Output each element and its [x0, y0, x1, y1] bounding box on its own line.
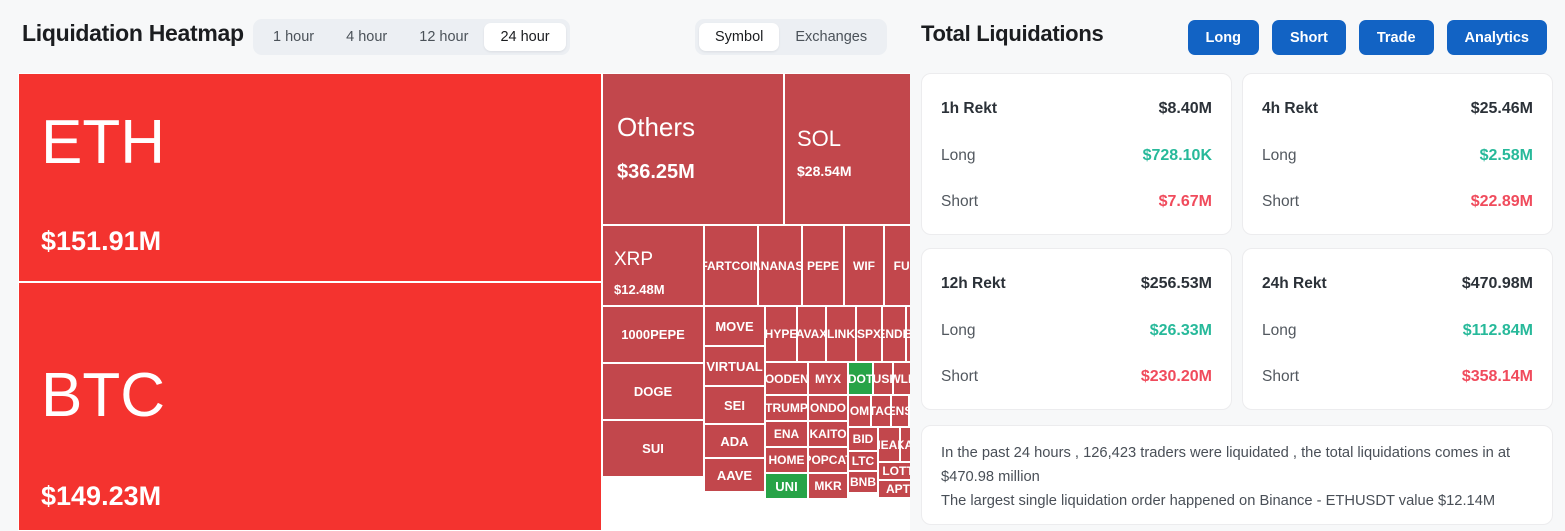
- treemap-tile-label: ONDO: [810, 402, 846, 414]
- treemap-tile-trump[interactable]: TRUMP: [765, 395, 808, 421]
- treemap-tile-btc[interactable]: BTC$149.23M: [18, 282, 602, 531]
- treemap-tile-value: $12.48M: [614, 283, 665, 296]
- treemap-tile-ada[interactable]: ADA: [704, 424, 765, 458]
- treemap-tile-value: $36.25M: [617, 162, 695, 182]
- treemap-tile-label: ETH: [41, 112, 165, 174]
- treemap-tile-label: KAITO: [809, 428, 846, 440]
- treemap-tile-pepe[interactable]: PEPE: [802, 225, 844, 306]
- treemap-tile-label: FARTCOIN: [704, 260, 758, 272]
- stat-short-value: $358.14M: [1462, 368, 1533, 386]
- treemap-tile-popcat[interactable]: POPCAT: [808, 447, 848, 473]
- stat-card-12h: 12h Rekt $256.53M Long $26.33M Short $23…: [921, 248, 1232, 410]
- treemap-tile-mkr[interactable]: MKR: [808, 473, 848, 499]
- stat-short-row: Short $7.67M: [941, 193, 1212, 211]
- treemap-tile-bid[interactable]: BID: [848, 427, 878, 451]
- treemap-tile-label: WIF: [853, 260, 875, 272]
- stat-short-value: $22.89M: [1471, 193, 1533, 211]
- timeframe-option-2[interactable]: 12 hour: [403, 23, 484, 51]
- stat-long-label: Long: [1262, 147, 1296, 165]
- treemap-tile-sushi[interactable]: SUSHI: [873, 362, 893, 395]
- treemap-tile-ondo[interactable]: ONDO: [808, 395, 848, 421]
- stat-short-row: Short $358.14M: [1262, 368, 1533, 386]
- treemap-tile-label: RENDER: [882, 328, 906, 340]
- treemap-tile-label: LTC: [852, 455, 874, 467]
- stat-short-label: Short: [1262, 193, 1299, 211]
- stat-long-value: $26.33M: [1150, 322, 1212, 340]
- liquidation-treemap[interactable]: ETH$151.91MBTC$149.23MOthers$36.25MSOL$2…: [18, 73, 910, 531]
- treemap-tile-label: HOME: [769, 454, 805, 466]
- treemap-tile-ltc[interactable]: LTC: [848, 451, 878, 471]
- stat-long-label: Long: [941, 147, 975, 165]
- treemap-tile-label: BANANAS31: [758, 260, 802, 272]
- treemap-tile-lott[interactable]: LOTT: [878, 462, 910, 480]
- page-header: Liquidation Heatmap 1 hour4 hour12 hour2…: [0, 0, 1565, 70]
- treemap-tile-xrp[interactable]: XRP$12.48M: [602, 225, 704, 306]
- treemap-tile-near[interactable]: NEAR: [878, 427, 900, 462]
- treemap-tile-virtual[interactable]: VIRTUAL: [704, 346, 765, 386]
- treemap-tile-avax[interactable]: AVAX: [797, 306, 826, 362]
- summary-card: In the past 24 hours , 126,423 traders w…: [921, 425, 1553, 525]
- treemap-tile-label: MYX: [815, 373, 841, 385]
- stat-total-value: $256.53M: [1141, 275, 1212, 293]
- treemap-tile-label: POPCAT: [808, 454, 848, 466]
- treemap-tile-dot[interactable]: DOT: [848, 362, 873, 395]
- stat-total-row: 4h Rekt $25.46M: [1262, 100, 1533, 118]
- treemap-tile-sol[interactable]: SOL$28.54M: [784, 73, 910, 225]
- treemap-tile-bananas31[interactable]: BANANAS31: [758, 225, 802, 306]
- stat-title: 12h Rekt: [941, 275, 1006, 293]
- stat-title: 24h Rekt: [1262, 275, 1327, 293]
- treemap-tile-label: SEI: [724, 399, 745, 412]
- treemap-tile-label: BID: [853, 433, 874, 445]
- action-button-analytics[interactable]: Analytics: [1447, 20, 1547, 55]
- treemap-tile-ena[interactable]: ENA: [765, 421, 808, 447]
- timeframe-option-1[interactable]: 4 hour: [330, 23, 403, 51]
- treemap-tile-label: OM: [850, 405, 869, 417]
- stat-short-label: Short: [941, 368, 978, 386]
- summary-line-1: In the past 24 hours , 126,423 traders w…: [941, 442, 1533, 490]
- treemap-tile-sei[interactable]: SEI: [704, 386, 765, 424]
- treemap-tile-label: BCH: [906, 328, 910, 340]
- stat-total-value: $8.40M: [1159, 100, 1212, 118]
- treemap-tile-hype[interactable]: HYPE: [765, 306, 797, 362]
- treemap-tile-fun[interactable]: FUN: [884, 225, 910, 306]
- treemap-tile-spx[interactable]: SPX: [856, 306, 882, 362]
- summary-line-2: The largest single liquidation order hap…: [941, 490, 1533, 514]
- treemap-tile-label: VIRTUAL: [706, 360, 762, 373]
- liquidation-heatmap-page: Liquidation Heatmap 1 hour4 hour12 hour2…: [0, 0, 1565, 531]
- stat-title: 1h Rekt: [941, 100, 997, 118]
- treemap-tile-wif[interactable]: WIF: [844, 225, 884, 306]
- total-liquidations-title: Total Liquidations: [921, 21, 1103, 47]
- treemap-tile-tao[interactable]: TAO: [871, 395, 891, 427]
- treemap-tile-label: DOT: [848, 373, 873, 385]
- stat-total-row: 1h Rekt $8.40M: [941, 100, 1212, 118]
- stat-card-1h: 1h Rekt $8.40M Long $728.10K Short $7.67…: [921, 73, 1232, 235]
- treemap-tile-label: UNI: [775, 480, 797, 493]
- stat-long-row: Long $112.84M: [1262, 322, 1533, 340]
- stat-short-label: Short: [1262, 368, 1299, 386]
- treemap-tile-value: $28.54M: [797, 164, 851, 178]
- treemap-tile-value: $151.91M: [41, 228, 161, 255]
- timeframe-option-0[interactable]: 1 hour: [257, 23, 330, 51]
- stat-long-value: $112.84M: [1463, 322, 1533, 340]
- treemap-tile-kaito[interactable]: KAITO: [808, 421, 848, 447]
- treemap-tile-1000pepe[interactable]: 1000PEPE: [602, 306, 704, 363]
- stat-long-value: $728.10K: [1143, 147, 1212, 165]
- treemap-tile-home[interactable]: HOME: [765, 447, 808, 473]
- stat-short-value: $7.67M: [1159, 193, 1212, 211]
- treemap-tile-eth[interactable]: ETH$151.91M: [18, 73, 602, 282]
- treemap-tile-label: PEPE: [807, 260, 839, 272]
- treemap-tile-label: SUSHI: [873, 373, 893, 385]
- treemap-tile-label: MOODENG: [765, 373, 808, 385]
- treemap-tile-label: BTC: [41, 365, 165, 427]
- treemap-tile-myx[interactable]: MYX: [808, 362, 848, 395]
- treemap-tile-bnb[interactable]: BNB: [848, 471, 878, 493]
- treemap-tile-label: MOVE: [715, 320, 753, 333]
- treemap-tile-fartcoin[interactable]: FARTCOIN: [704, 225, 758, 306]
- treemap-tile-ens[interactable]: ENS: [891, 395, 909, 427]
- treemap-tile-label: 1000PEPE: [621, 328, 685, 341]
- treemap-tile-label: ADA: [720, 435, 748, 448]
- stat-long-row: Long $2.58M: [1262, 147, 1533, 165]
- treemap-tile-label: ENS: [891, 405, 909, 417]
- treemap-tile-label: NEAR: [878, 439, 900, 451]
- treemap-tile-wld[interactable]: WLD: [893, 362, 910, 395]
- treemap-tile-label: SPX: [857, 328, 881, 340]
- stat-total-value: $470.98M: [1462, 275, 1533, 293]
- treemap-tile-link[interactable]: LINK: [826, 306, 856, 362]
- grouping-option-1[interactable]: Exchanges: [779, 23, 883, 51]
- treemap-tile-label: KAS: [900, 439, 910, 451]
- stat-long-label: Long: [1262, 322, 1296, 340]
- treemap-tile-label: APT: [886, 483, 910, 495]
- treemap-tile-label: WLD: [893, 373, 910, 385]
- stat-long-value: $2.58M: [1480, 147, 1533, 165]
- treemap-tile-value: $149.23M: [41, 483, 161, 510]
- treemap-tile-inj[interactable]: INJ: [909, 395, 910, 427]
- grouping-option-0[interactable]: Symbol: [699, 23, 779, 51]
- page-title: Liquidation Heatmap: [22, 20, 244, 47]
- treemap-tile-render[interactable]: RENDER: [882, 306, 906, 362]
- treemap-tile-sui[interactable]: SUI: [602, 420, 704, 477]
- action-button-short[interactable]: Short: [1272, 20, 1346, 55]
- treemap-tile-uni[interactable]: UNI: [765, 473, 808, 499]
- stat-title: 4h Rekt: [1262, 100, 1318, 118]
- stat-total-value: $25.46M: [1471, 100, 1533, 118]
- treemap-tile-others[interactable]: Others$36.25M: [602, 73, 784, 225]
- treemap-tile-label: INJ: [909, 405, 910, 417]
- treemap-tile-bch[interactable]: BCH: [906, 306, 910, 362]
- treemap-tile-label: Others: [617, 114, 695, 140]
- treemap-tile-label: TRUMP: [765, 402, 808, 414]
- header-actions: LongShortTradeAnalytics: [1188, 20, 1547, 55]
- grouping-segmented-control[interactable]: SymbolExchanges: [695, 19, 887, 55]
- stat-card-24h: 24h Rekt $470.98M Long $112.84M Short $3…: [1242, 248, 1553, 410]
- treemap-tile-label: SUI: [642, 442, 664, 455]
- treemap-tile-apt[interactable]: APT: [878, 480, 910, 498]
- treemap-tile-label: HYPE: [765, 328, 797, 340]
- treemap-tile-moodeng[interactable]: MOODENG: [765, 362, 808, 395]
- stat-long-label: Long: [941, 322, 975, 340]
- treemap-tile-aave[interactable]: AAVE: [704, 458, 765, 492]
- treemap-tile-label: LINK: [827, 328, 855, 340]
- treemap-tile-label: MKR: [814, 480, 841, 492]
- action-button-trade[interactable]: Trade: [1359, 20, 1434, 55]
- treemap-tile-label: SOL: [797, 128, 841, 150]
- action-button-long[interactable]: Long: [1188, 20, 1259, 55]
- stat-card-4h: 4h Rekt $25.46M Long $2.58M Short $22.89…: [1242, 73, 1553, 235]
- treemap-tile-om[interactable]: OM: [848, 395, 871, 427]
- treemap-tile-label: AAVE: [717, 469, 752, 482]
- treemap-tile-kas[interactable]: KAS: [900, 427, 910, 462]
- treemap-tile-move[interactable]: MOVE: [704, 306, 765, 346]
- stat-total-row: 24h Rekt $470.98M: [1262, 275, 1533, 293]
- stat-short-value: $230.20M: [1141, 368, 1212, 386]
- stat-short-label: Short: [941, 193, 978, 211]
- stat-short-row: Short $230.20M: [941, 368, 1212, 386]
- treemap-tile-label: XRP: [614, 250, 653, 269]
- stat-long-row: Long $26.33M: [941, 322, 1212, 340]
- treemap-tile-label: FUN: [894, 260, 910, 272]
- stat-total-row: 12h Rekt $256.53M: [941, 275, 1212, 293]
- timeframe-segmented-control[interactable]: 1 hour4 hour12 hour24 hour: [253, 19, 570, 55]
- treemap-tile-label: BNB: [850, 476, 876, 488]
- timeframe-option-3[interactable]: 24 hour: [484, 23, 565, 51]
- stat-short-row: Short $22.89M: [1262, 193, 1533, 211]
- treemap-tile-label: TAO: [871, 405, 891, 417]
- treemap-tile-label: AVAX: [797, 328, 826, 340]
- stat-long-row: Long $728.10K: [941, 147, 1212, 165]
- treemap-tile-doge[interactable]: DOGE: [602, 363, 704, 420]
- treemap-tile-label: ENA: [774, 428, 799, 440]
- treemap-tile-label: DOGE: [634, 385, 672, 398]
- treemap-tile-label: LOTT: [882, 465, 910, 477]
